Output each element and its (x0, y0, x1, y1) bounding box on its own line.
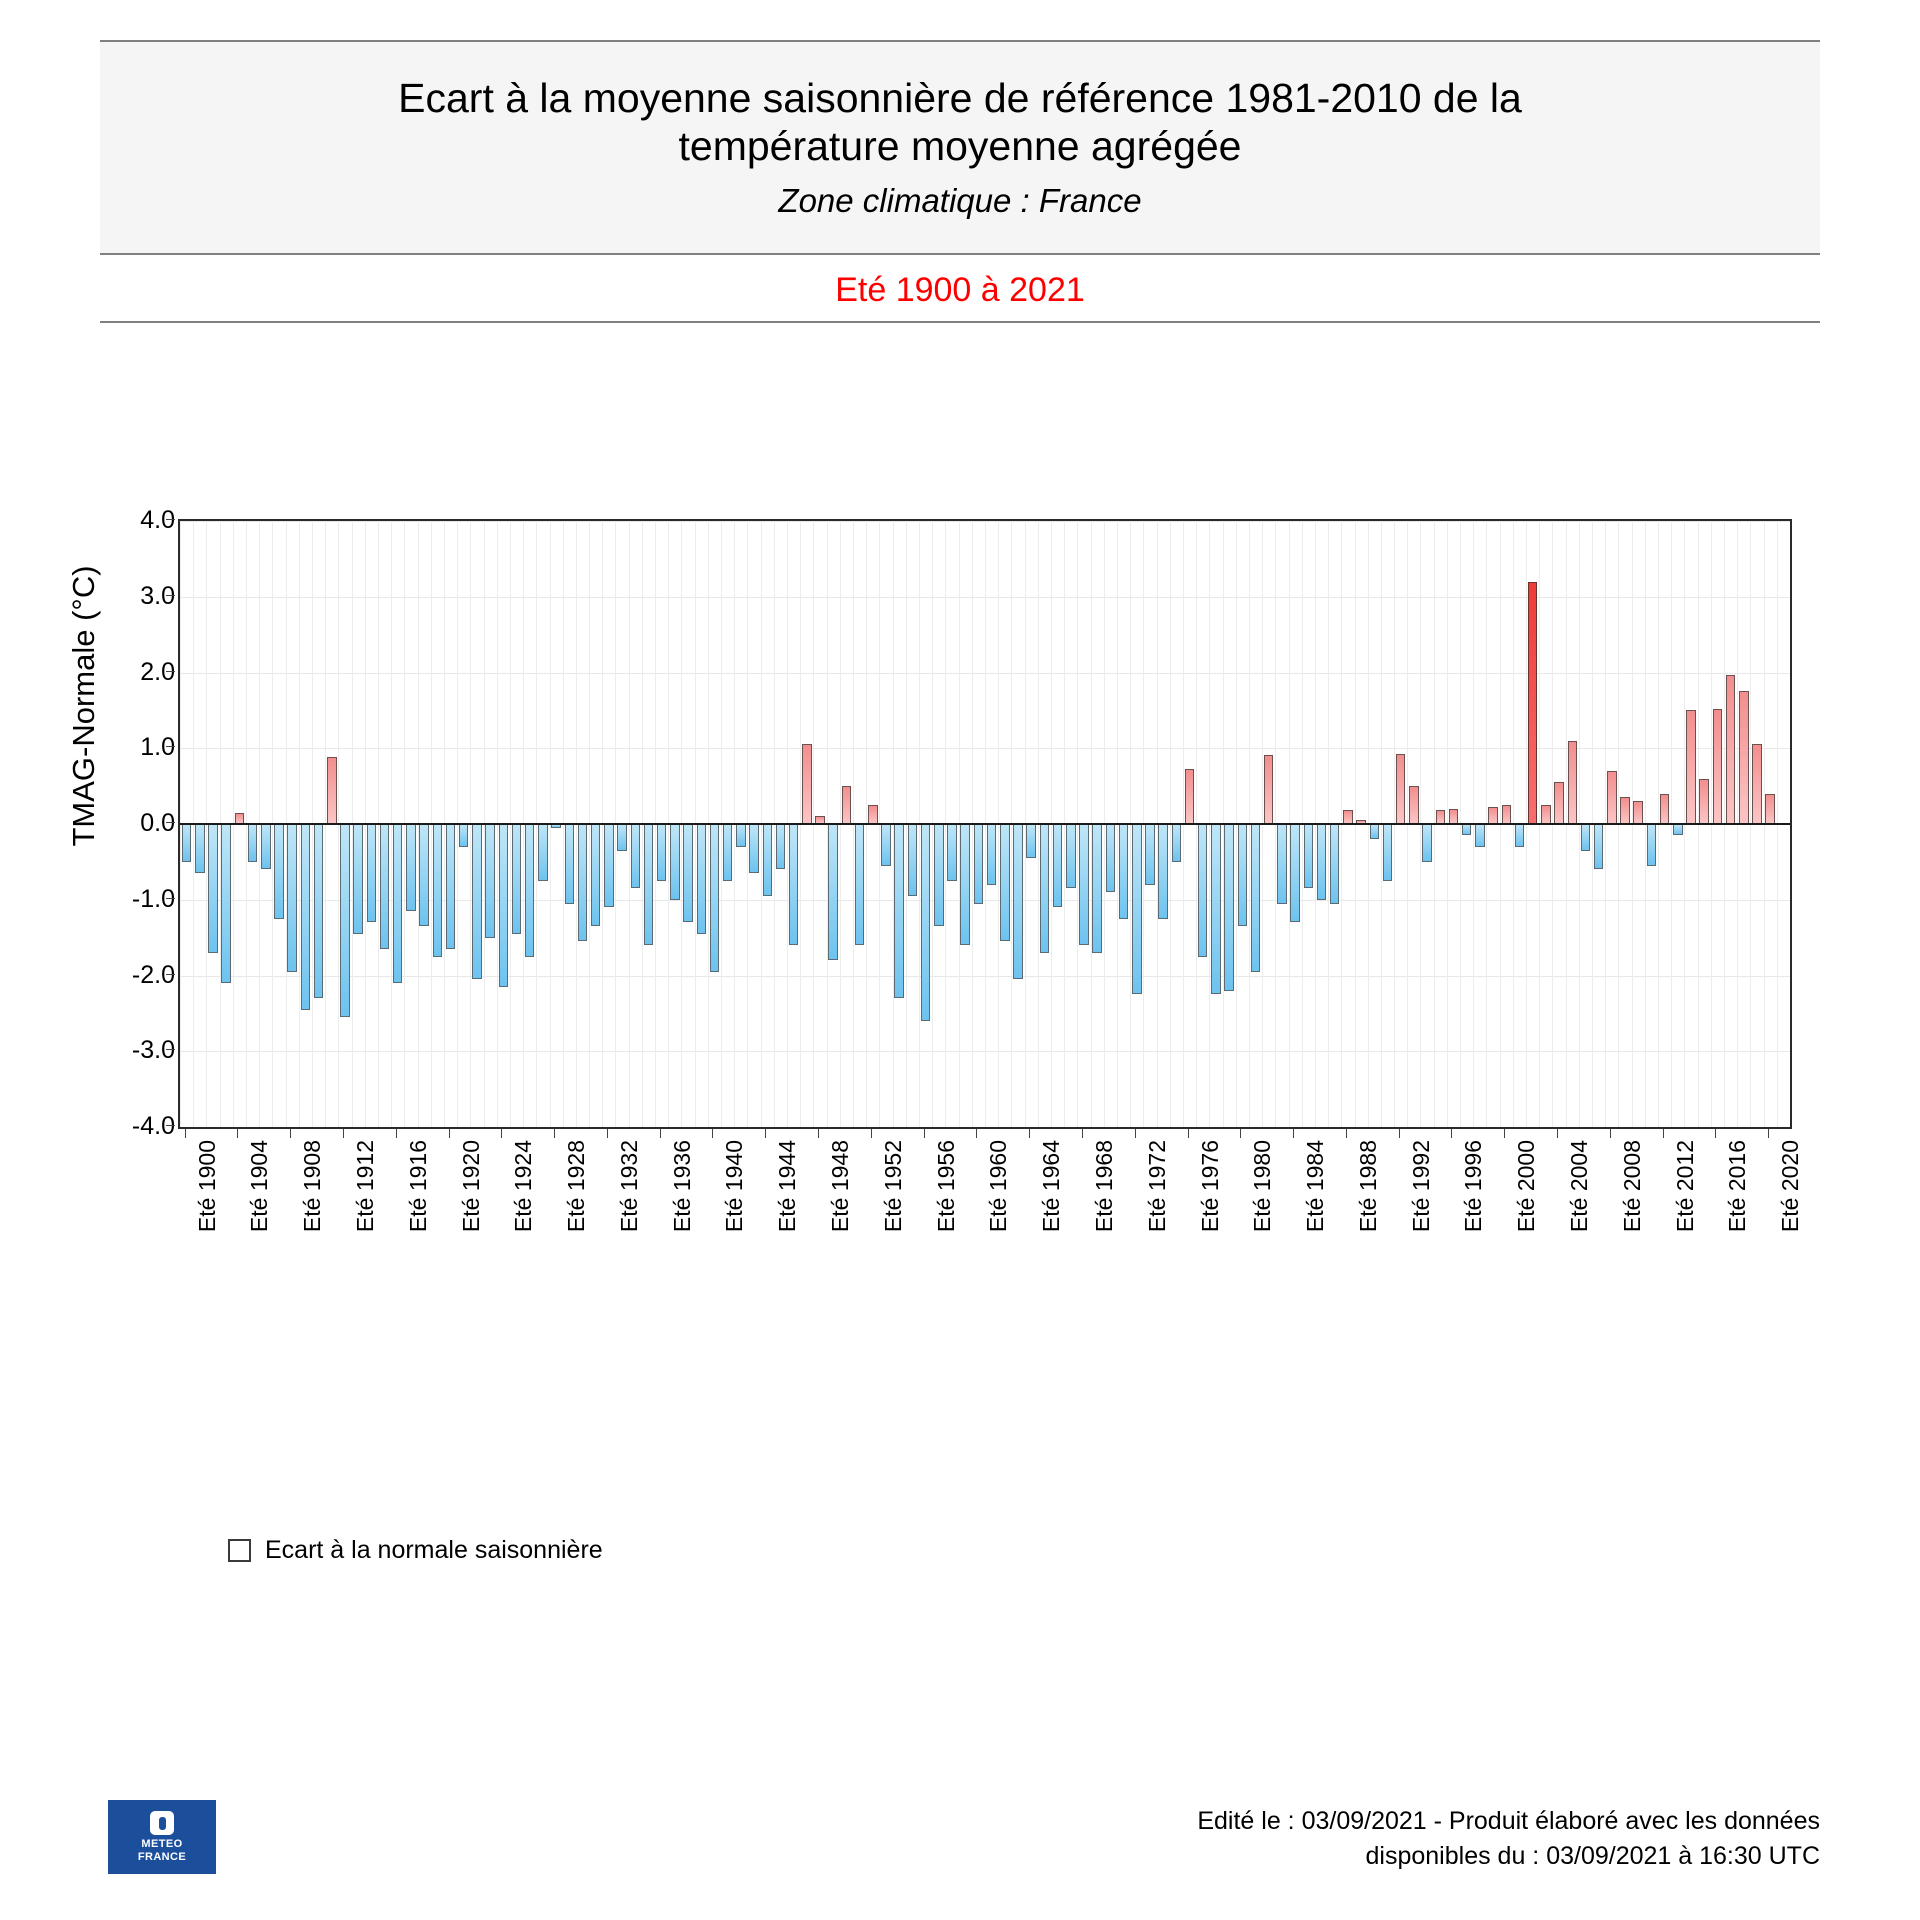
bar-1967 (1066, 824, 1076, 888)
x-axis-tick-label: Eté 1984 (1302, 1140, 1329, 1232)
y-axis-tick-label: 3.0 (55, 582, 175, 611)
bar-1978 (1211, 824, 1221, 994)
bar-1990 (1370, 824, 1380, 839)
bar-1987 (1330, 824, 1340, 904)
x-axis-tickmark (1082, 1129, 1083, 1138)
y-axis-tick-label: -1.0 (55, 885, 175, 914)
x-axis-tickmark (1135, 1129, 1136, 1138)
bar-1919 (433, 824, 443, 957)
footer-line-2: disponibles du : 03/09/2021 à 16:30 UTC (720, 1839, 1820, 1874)
x-axis-tick-label: Eté 1936 (669, 1140, 696, 1232)
y-axis-tickmark (166, 822, 175, 823)
bar-1951 (855, 824, 865, 945)
gridline-horizontal (180, 1127, 1790, 1128)
bar-1998 (1475, 824, 1485, 847)
x-axis-tickmark (1451, 1129, 1452, 1138)
x-axis-tick-label: Eté 1900 (194, 1140, 221, 1232)
bar-1905 (248, 824, 258, 862)
bar-1955 (908, 824, 918, 896)
y-axis-tick-label: -3.0 (55, 1036, 175, 1065)
bar-1971 (1119, 824, 1129, 919)
y-axis-tickmark (166, 898, 175, 899)
bar-1921 (459, 824, 469, 847)
x-axis-tick-label: Eté 2004 (1566, 1140, 1593, 1232)
meteo-france-badge-icon (150, 1811, 174, 1835)
bar-2004 (1554, 782, 1564, 824)
x-axis-tick-label: Eté 1972 (1144, 1140, 1171, 1232)
bar-2016 (1713, 709, 1723, 824)
bar-2015 (1699, 779, 1709, 824)
bar-1922 (472, 824, 482, 979)
bar-1900 (182, 824, 192, 862)
x-axis-tickmark (1240, 1129, 1241, 1138)
bar-1996 (1449, 809, 1459, 824)
y-axis-tick-label: -4.0 (55, 1112, 175, 1141)
x-axis-tick-label: Eté 2016 (1724, 1140, 1751, 1232)
bar-1977 (1198, 824, 1208, 957)
bar-2012 (1660, 794, 1670, 824)
x-axis-tick-label: Eté 1944 (774, 1140, 801, 1232)
bar-1913 (353, 824, 363, 934)
bar-1949 (828, 824, 838, 960)
logo-text: METEO FRANCE (138, 1838, 186, 1863)
bar-2017 (1726, 675, 1736, 824)
bar-1986 (1317, 824, 1327, 900)
x-axis-tick-label: Eté 1948 (827, 1140, 854, 1232)
bar-1923 (485, 824, 495, 938)
x-axis-tick-label: Eté 2012 (1672, 1140, 1699, 1232)
logo-line-1: METEO (141, 1838, 182, 1850)
bar-2005 (1568, 741, 1578, 824)
bar-1931 (591, 824, 601, 926)
bar-1975 (1172, 824, 1182, 862)
bar-2019 (1752, 744, 1762, 824)
bar-1944 (763, 824, 773, 896)
x-axis-tick-label: Eté 1916 (405, 1140, 432, 1232)
bar-1906 (261, 824, 271, 869)
bar-1988 (1343, 810, 1353, 824)
x-axis-tick-label: Eté 1976 (1197, 1140, 1224, 1232)
bar-1929 (565, 824, 575, 904)
x-axis-tickmark (1715, 1129, 1716, 1138)
x-axis-tick-label: Eté 1968 (1091, 1140, 1118, 1232)
y-axis-tickmark (166, 519, 175, 520)
bar-2000 (1502, 805, 1512, 824)
bar-1952 (868, 805, 878, 824)
legend: Ecart à la normale saisonnière (228, 1536, 603, 1565)
x-axis-tickmark (712, 1129, 713, 1138)
x-axis-tick-label: Eté 1952 (880, 1140, 907, 1232)
x-axis-tickmark (1188, 1129, 1189, 1138)
y-axis-tickmark (166, 595, 175, 596)
bar-1935 (644, 824, 654, 945)
y-axis-tick-label: 4.0 (55, 506, 175, 535)
x-axis-tick-label: Eté 2020 (1777, 1140, 1804, 1232)
bar-2020 (1765, 794, 1775, 824)
x-axis-labels: Eté 1900Eté 1904Eté 1908Eté 1912Eté 1916… (178, 1140, 1788, 1380)
x-axis-tickmark (343, 1129, 344, 1138)
bar-1945 (776, 824, 786, 869)
y-axis-tick-label: 1.0 (55, 733, 175, 762)
bar-2003 (1541, 805, 1551, 824)
bar-2009 (1620, 797, 1630, 824)
bar-1991 (1383, 824, 1393, 881)
footer-note: Edité le : 03/09/2021 - Produit élaboré … (720, 1804, 1820, 1874)
x-axis-tick-label: Eté 1992 (1408, 1140, 1435, 1232)
bar-1973 (1145, 824, 1155, 885)
bar-1910 (314, 824, 324, 998)
bar-1911 (327, 757, 337, 824)
x-axis-tickmark (871, 1129, 872, 1138)
x-axis-tickmark (1346, 1129, 1347, 1138)
x-axis-tick-label: Eté 1964 (1038, 1140, 1065, 1232)
bar-1956 (921, 824, 931, 1021)
bar-1953 (881, 824, 891, 866)
bar-1981 (1251, 824, 1261, 972)
bar-1947 (802, 744, 812, 824)
bar-2014 (1686, 710, 1696, 824)
plot-wrapper: TMAG-Normale (°C) 4.03.02.01.00.0-1.0-2.… (0, 0, 1920, 1920)
bar-1901 (195, 824, 205, 873)
x-axis-tickmark (501, 1129, 502, 1138)
bar-1999 (1488, 807, 1498, 824)
x-axis-tickmark (185, 1129, 186, 1138)
chart-page: Ecart à la moyenne saisonnière de référe… (0, 0, 1920, 1920)
bar-1924 (499, 824, 509, 987)
bar-1982 (1264, 755, 1274, 824)
x-axis-tick-label: Eté 1904 (246, 1140, 273, 1232)
x-axis-tickmark (1663, 1129, 1664, 1138)
x-axis-tick-label: Eté 1924 (510, 1140, 537, 1232)
bar-1976 (1185, 769, 1195, 824)
bar-1943 (749, 824, 759, 873)
bar-1946 (789, 824, 799, 945)
bar-1941 (723, 824, 733, 881)
bar-2006 (1581, 824, 1591, 851)
bar-1932 (604, 824, 614, 907)
y-axis-ticks: 4.03.02.01.00.0-1.0-2.0-3.0-4.0 (50, 0, 175, 1920)
meteo-france-logo: METEO FRANCE (108, 1800, 216, 1874)
bar-1963 (1013, 824, 1023, 979)
x-axis-tick-label: Eté 1920 (458, 1140, 485, 1232)
x-axis-tickmark (1293, 1129, 1294, 1138)
bar-1994 (1422, 824, 1432, 862)
bar-1903 (221, 824, 231, 983)
bar-1937 (670, 824, 680, 900)
bar-1980 (1238, 824, 1248, 926)
bar-1933 (617, 824, 627, 851)
bar-1992 (1396, 754, 1406, 824)
bar-2001 (1515, 824, 1525, 847)
bar-1984 (1290, 824, 1300, 922)
bar-1907 (274, 824, 284, 919)
x-axis-tickmark (290, 1129, 291, 1138)
bar-2013 (1673, 824, 1683, 835)
bar-1972 (1132, 824, 1142, 994)
bar-1912 (340, 824, 350, 1017)
x-axis-tick-label: Eté 1928 (563, 1140, 590, 1232)
plot-area (178, 519, 1792, 1129)
bar-1957 (934, 824, 944, 926)
x-axis-tickmark (976, 1129, 977, 1138)
x-axis-tick-label: Eté 2000 (1513, 1140, 1540, 1232)
bar-1925 (512, 824, 522, 934)
bar-1920 (446, 824, 456, 949)
y-axis-tick-label: 2.0 (55, 658, 175, 687)
bar-2008 (1607, 771, 1617, 824)
x-axis-tickmark (1557, 1129, 1558, 1138)
x-axis-tickmark (396, 1129, 397, 1138)
x-axis-tickmark (660, 1129, 661, 1138)
bar-1926 (525, 824, 535, 957)
y-axis-tick-label: 0.0 (55, 809, 175, 838)
x-axis-tickmark (449, 1129, 450, 1138)
x-axis-tick-label: Eté 1940 (721, 1140, 748, 1232)
bar-1979 (1224, 824, 1234, 991)
bar-1917 (406, 824, 416, 911)
y-axis-tick-label: -2.0 (55, 961, 175, 990)
gridline-vertical (1790, 521, 1791, 1127)
zero-baseline (180, 823, 1790, 825)
x-axis-tick-label: Eté 1956 (933, 1140, 960, 1232)
bar-1940 (710, 824, 720, 972)
footer-line-1: Edité le : 03/09/2021 - Produit élaboré … (720, 1804, 1820, 1839)
bar-1995 (1436, 810, 1446, 824)
x-axis-tick-label: Eté 1912 (352, 1140, 379, 1232)
x-axis-tickmark (1768, 1129, 1769, 1138)
bar-1954 (894, 824, 904, 998)
x-axis-tick-label: Eté 1996 (1460, 1140, 1487, 1232)
bar-2010 (1633, 801, 1643, 824)
bar-1902 (208, 824, 218, 953)
legend-label: Ecart à la normale saisonnière (265, 1536, 603, 1565)
bar-1962 (1000, 824, 1010, 941)
y-axis-tickmark (166, 1125, 175, 1126)
bar-1936 (657, 824, 667, 881)
x-axis-tickmark (607, 1129, 608, 1138)
bar-1968 (1079, 824, 1089, 945)
bar-1985 (1304, 824, 1314, 888)
bar-1974 (1158, 824, 1168, 919)
bar-1959 (960, 824, 970, 945)
bar-1915 (380, 824, 390, 949)
x-axis-tickmark (237, 1129, 238, 1138)
legend-swatch-icon (228, 1539, 251, 1562)
bar-1993 (1409, 786, 1419, 824)
x-axis-tickmark (1504, 1129, 1505, 1138)
x-axis-tick-label: Eté 1980 (1249, 1140, 1276, 1232)
x-axis-tickmark (1610, 1129, 1611, 1138)
bar-1970 (1106, 824, 1116, 892)
x-axis-tickmark (924, 1129, 925, 1138)
bar-1960 (974, 824, 984, 904)
x-axis-tickmark (554, 1129, 555, 1138)
x-axis-tickmark (765, 1129, 766, 1138)
logo-line-2: FRANCE (138, 1851, 186, 1863)
bar-1916 (393, 824, 403, 983)
bar-1961 (987, 824, 997, 885)
x-axis-tick-label: Eté 2008 (1619, 1140, 1646, 1232)
y-axis-tickmark (166, 746, 175, 747)
bar-1942 (736, 824, 746, 847)
bar-2002 (1528, 582, 1538, 824)
x-axis-tick-label: Eté 1988 (1355, 1140, 1382, 1232)
bar-1969 (1092, 824, 1102, 953)
bar-2018 (1739, 691, 1749, 824)
bar-1950 (842, 786, 852, 824)
bar-1938 (683, 824, 693, 922)
bar-2007 (1594, 824, 1604, 869)
bar-1930 (578, 824, 588, 941)
bar-1958 (947, 824, 957, 881)
x-axis-tickmark (818, 1129, 819, 1138)
bar-1964 (1026, 824, 1036, 858)
bar-1927 (538, 824, 548, 881)
x-axis-tick-label: Eté 1932 (616, 1140, 643, 1232)
y-axis-tickmark (166, 1049, 175, 1050)
bar-1934 (631, 824, 641, 888)
bar-1908 (287, 824, 297, 972)
x-axis-tick-label: Eté 1960 (985, 1140, 1012, 1232)
bar-1939 (697, 824, 707, 934)
y-axis-tickmark (166, 974, 175, 975)
y-axis-tickmark (166, 671, 175, 672)
bar-1983 (1277, 824, 1287, 904)
x-axis-tick-label: Eté 1908 (299, 1140, 326, 1232)
bar-1914 (367, 824, 377, 922)
bar-1965 (1040, 824, 1050, 953)
bar-1966 (1053, 824, 1063, 907)
bar-1997 (1462, 824, 1472, 835)
bar-1918 (419, 824, 429, 926)
x-axis-tickmark (1029, 1129, 1030, 1138)
bar-2011 (1647, 824, 1657, 866)
x-axis-tickmark (1399, 1129, 1400, 1138)
bar-1909 (301, 824, 311, 1010)
